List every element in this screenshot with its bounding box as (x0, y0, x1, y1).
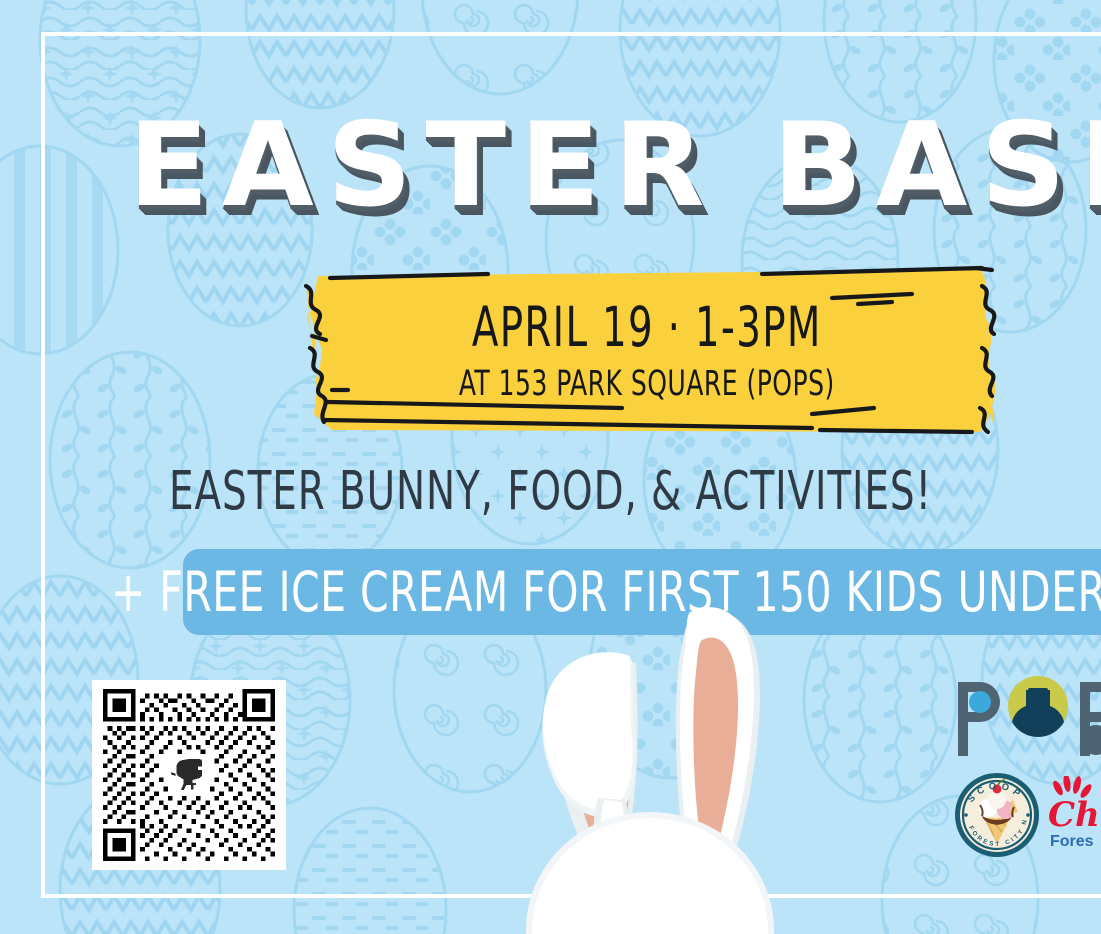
date-location-banner: APRIL 19 · 1-3PM AT 153 PARK SQUARE (POP… (292, 262, 1002, 438)
bunny-illustration (440, 600, 860, 934)
event-location: AT 153 PARK SQUARE (POPS) (459, 363, 835, 403)
banner-text-group: APRIL 19 · 1-3PM AT 153 PARK SQUARE (POP… (292, 262, 1002, 438)
bunny-right-ear (676, 607, 760, 850)
event-subtitle: EASTER BUNNY, FOOD, & ACTIVITIES! (44, 460, 1057, 523)
t-rex-dinosaur-icon (168, 754, 210, 796)
easter-bash-poster: EASTER BASH (0, 0, 1101, 934)
chick-fil-a-location-text: Fores (1050, 833, 1094, 850)
scoop-logo: SCOOP FOREST CITY NC (954, 772, 1040, 858)
title-container: EASTER BASH (0, 104, 1101, 234)
event-date: APRIL 19 · 1-3PM (472, 295, 822, 359)
chick-fil-a-logo: Chick Fores (1046, 776, 1101, 854)
qr-code-icon (101, 689, 277, 861)
pops-logo-letter-o (1008, 676, 1068, 737)
chick-fil-a-script-text: Chick (1048, 795, 1101, 835)
pops-logo (952, 676, 1101, 760)
pops-logo-letter-p2 (1080, 682, 1101, 756)
page-title: EASTER BASH (128, 104, 1101, 228)
qr-code[interactable] (92, 680, 286, 870)
pops-logo-letter-p1 (958, 682, 1000, 756)
